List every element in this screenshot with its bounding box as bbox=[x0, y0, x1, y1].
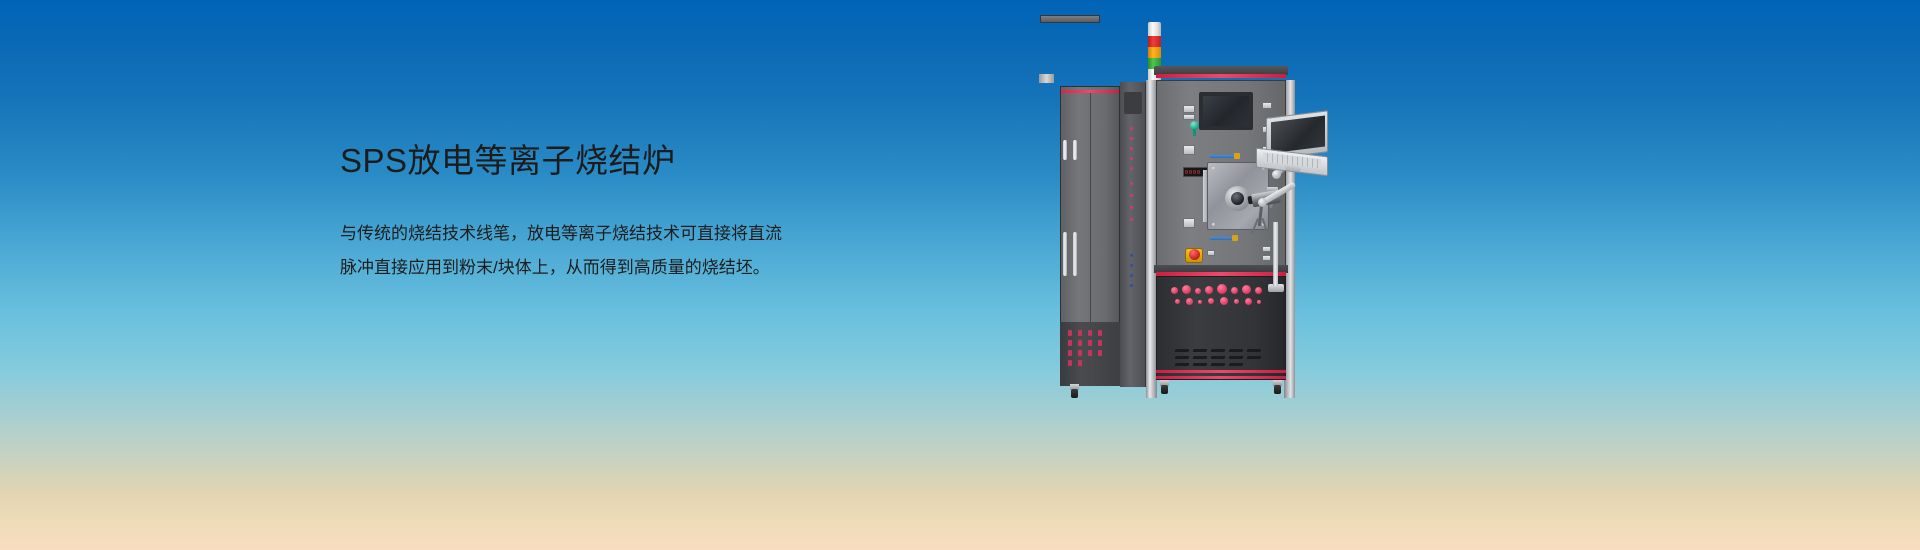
ventilation-slot bbox=[1229, 363, 1244, 366]
louver-vent-grille bbox=[1124, 92, 1142, 114]
ventilation-slot bbox=[1193, 349, 1208, 352]
ventilation-slot bbox=[1229, 349, 1244, 352]
exhaust-port bbox=[1208, 298, 1214, 304]
vent-hole bbox=[1088, 350, 1092, 356]
caster-roller bbox=[1274, 385, 1281, 394]
pipe-elbow-lower bbox=[1232, 235, 1238, 241]
banner-description: 与传统的烧结技术线笔，放电等离子烧结技术可直接将直流 脉冲直接应用到粉末/块体上… bbox=[340, 217, 860, 285]
panel-switch[interactable] bbox=[1183, 114, 1195, 120]
indicator-led bbox=[1130, 182, 1133, 185]
vent-hole bbox=[1068, 340, 1072, 346]
lower-cabinet bbox=[1156, 276, 1286, 380]
left-cabinet-lower bbox=[1060, 322, 1120, 386]
exhaust-port bbox=[1205, 286, 1213, 294]
description-line-1: 与传统的烧结技术线笔，放电等离子烧结技术可直接将直流 bbox=[340, 217, 860, 251]
vent-hole bbox=[1068, 350, 1072, 356]
vent-hole bbox=[1088, 340, 1092, 346]
vent-hole bbox=[1078, 360, 1082, 366]
cabinet-hinge-upper-right bbox=[1073, 140, 1077, 160]
ventilation-slot bbox=[1211, 349, 1226, 352]
signal-light-amber-icon bbox=[1148, 47, 1161, 58]
control-knob-stem bbox=[1193, 129, 1196, 136]
panel-button[interactable] bbox=[1262, 255, 1271, 261]
exhaust-port bbox=[1195, 288, 1201, 294]
panel-button[interactable] bbox=[1183, 145, 1195, 155]
cabinet-handle-left[interactable] bbox=[1063, 232, 1067, 276]
laptop-terminal[interactable] bbox=[1256, 114, 1328, 178]
vent-hole bbox=[1078, 330, 1082, 336]
vent-hole bbox=[1078, 340, 1082, 346]
panel-button[interactable] bbox=[1183, 218, 1195, 228]
caster-roller bbox=[1071, 389, 1078, 398]
ventilation-slot bbox=[1193, 363, 1208, 366]
exhaust-port bbox=[1231, 287, 1238, 294]
vent-hole bbox=[1068, 360, 1072, 366]
ventilation-slot bbox=[1211, 363, 1226, 366]
exhaust-port bbox=[1220, 297, 1228, 305]
panel-button[interactable] bbox=[1207, 250, 1215, 256]
vent-hole bbox=[1098, 330, 1102, 336]
signal-light-red-icon bbox=[1148, 36, 1161, 47]
chamber-bolt bbox=[1212, 223, 1215, 226]
label-marking bbox=[1130, 284, 1133, 287]
vent-hole bbox=[1098, 350, 1102, 356]
laptop-touchpad[interactable] bbox=[1285, 165, 1301, 172]
coolant-pipe-lower bbox=[1210, 237, 1234, 240]
left-cabinet-top bbox=[1040, 15, 1100, 23]
indicator-led bbox=[1130, 167, 1133, 170]
pipe-elbow-upper bbox=[1234, 153, 1240, 159]
page-title: SPS放电等离子烧结炉 bbox=[340, 140, 860, 183]
caster-wheel bbox=[1070, 384, 1079, 398]
indicator-strip-panel bbox=[1120, 82, 1146, 387]
panel-switch[interactable] bbox=[1183, 105, 1195, 113]
label-marking bbox=[1130, 264, 1133, 267]
vent-hole bbox=[1088, 330, 1092, 336]
exhaust-port bbox=[1245, 298, 1252, 305]
ventilation-slot bbox=[1211, 356, 1226, 359]
indicator-led bbox=[1130, 147, 1133, 150]
product-image-sps-furnace: 0000 bbox=[1040, 22, 1320, 442]
ventilation-slot bbox=[1175, 349, 1190, 352]
exhaust-port bbox=[1171, 287, 1178, 294]
panel-button[interactable] bbox=[1262, 246, 1271, 252]
cabinet-handle-right[interactable] bbox=[1073, 232, 1077, 276]
emergency-stop-button[interactable] bbox=[1189, 249, 1200, 260]
panel-accent-stripe-top bbox=[1156, 74, 1286, 78]
ventilation-slot bbox=[1175, 363, 1190, 366]
description-line-2: 脉冲直接应用到粉末/块体上，从而得到高质量的烧结坯。 bbox=[340, 251, 860, 285]
cabinet-hinge-upper-left bbox=[1063, 140, 1067, 160]
label-marking bbox=[1130, 274, 1133, 277]
vent-hole bbox=[1098, 340, 1102, 346]
laptop-screen[interactable] bbox=[1271, 116, 1325, 154]
exhaust-port bbox=[1198, 300, 1202, 304]
chamber-viewport-glass bbox=[1231, 192, 1244, 205]
lower-accent-stripe-1 bbox=[1156, 370, 1286, 373]
display-screen[interactable] bbox=[1199, 92, 1253, 130]
caster-roller bbox=[1161, 385, 1168, 394]
exhaust-port bbox=[1257, 300, 1261, 304]
display-screen-surface bbox=[1203, 96, 1249, 126]
ventilation-slot bbox=[1229, 356, 1244, 359]
coolant-pipe-upper bbox=[1210, 155, 1236, 158]
exhaust-port bbox=[1234, 299, 1239, 304]
vent-hole bbox=[1078, 350, 1082, 356]
ventilation-slot bbox=[1247, 349, 1262, 352]
exhaust-port bbox=[1217, 284, 1227, 294]
ventilation-slot bbox=[1193, 356, 1208, 359]
indicator-led bbox=[1130, 157, 1133, 160]
signal-tower-base bbox=[1039, 74, 1054, 83]
indicator-led bbox=[1130, 127, 1133, 130]
caster-wheel bbox=[1160, 380, 1169, 394]
indicator-led bbox=[1130, 194, 1133, 197]
ventilation-slot bbox=[1247, 356, 1262, 359]
exhaust-port bbox=[1255, 287, 1262, 294]
caster-wheel bbox=[1273, 380, 1282, 394]
lower-accent-stripe-2 bbox=[1156, 376, 1286, 379]
indicator-led bbox=[1130, 137, 1133, 140]
exhaust-port bbox=[1175, 299, 1180, 304]
ventilation-slot bbox=[1175, 356, 1190, 359]
support-arm-joint bbox=[1258, 198, 1267, 207]
exhaust-port bbox=[1182, 285, 1191, 294]
banner-text-block: SPS放电等离子烧结炉 与传统的烧结技术线笔，放电等离子烧结技术可直接将直流 脉… bbox=[340, 140, 860, 285]
indicator-led bbox=[1130, 206, 1133, 209]
exhaust-port bbox=[1242, 285, 1251, 294]
label-marking bbox=[1130, 254, 1133, 257]
support-arm-pole bbox=[1273, 222, 1278, 286]
indicator-led bbox=[1130, 218, 1133, 221]
chamber-bolt bbox=[1212, 167, 1215, 170]
vent-hole bbox=[1068, 330, 1072, 336]
panel-button[interactable] bbox=[1262, 102, 1272, 109]
exhaust-port bbox=[1186, 298, 1193, 305]
